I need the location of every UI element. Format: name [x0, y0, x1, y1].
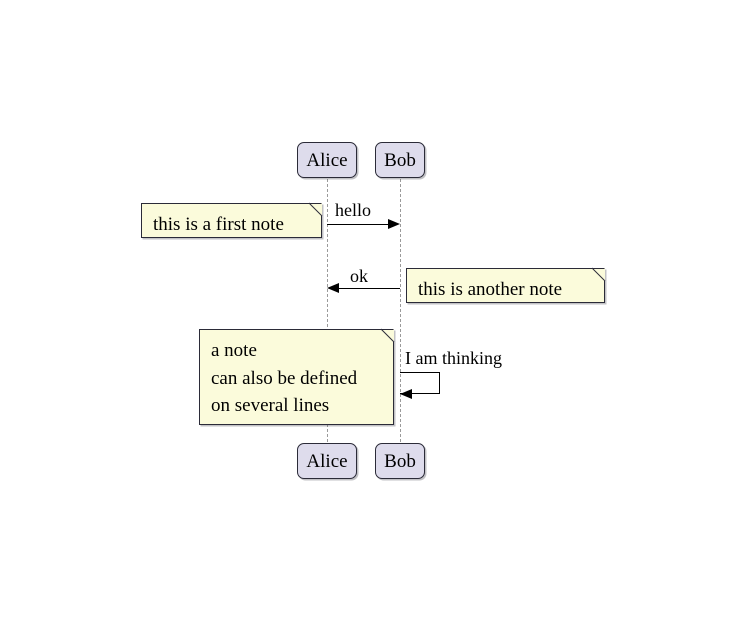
participant-alice-bottom[interactable]: Alice — [297, 443, 357, 479]
participant-bob-bottom[interactable]: Bob — [375, 443, 425, 479]
note-another-line-1: this is another note — [418, 276, 593, 304]
participant-bob-top-label: Bob — [384, 151, 416, 170]
message-hello-label: hello — [335, 201, 371, 219]
message-hello-arrowhead — [388, 219, 400, 229]
message-hello-line — [327, 224, 389, 225]
sequence-diagram-canvas: Alice Bob this is a first note hello ok … — [0, 0, 746, 620]
message-ok-label: ok — [350, 267, 368, 285]
message-thinking-label: I am thinking — [405, 349, 502, 367]
note-multiline-line-1: a note — [211, 337, 382, 365]
participant-alice-top[interactable]: Alice — [297, 142, 357, 178]
note-fold-line-icon — [587, 268, 605, 286]
lifeline-bob — [400, 179, 401, 442]
participant-alice-bottom-label: Alice — [306, 452, 347, 471]
message-ok-line — [339, 288, 400, 289]
note-multiline-line-3: on several lines — [211, 392, 382, 420]
participant-alice-top-label: Alice — [306, 151, 347, 170]
note-first-line-1: this is a first note — [153, 211, 310, 239]
note-multiline-line-2: can also be defined — [211, 365, 382, 393]
note-fold-line-icon — [304, 203, 322, 221]
note-multiline[interactable]: a note can also be defined on several li… — [199, 329, 394, 425]
note-another[interactable]: this is another note — [406, 268, 605, 303]
participant-bob-bottom-label: Bob — [384, 452, 416, 471]
participant-bob-top[interactable]: Bob — [375, 142, 425, 178]
message-thinking-arrowhead — [400, 389, 412, 399]
note-fold-line-icon — [376, 329, 394, 347]
message-ok-arrowhead — [327, 283, 339, 293]
note-first[interactable]: this is a first note — [141, 203, 322, 238]
